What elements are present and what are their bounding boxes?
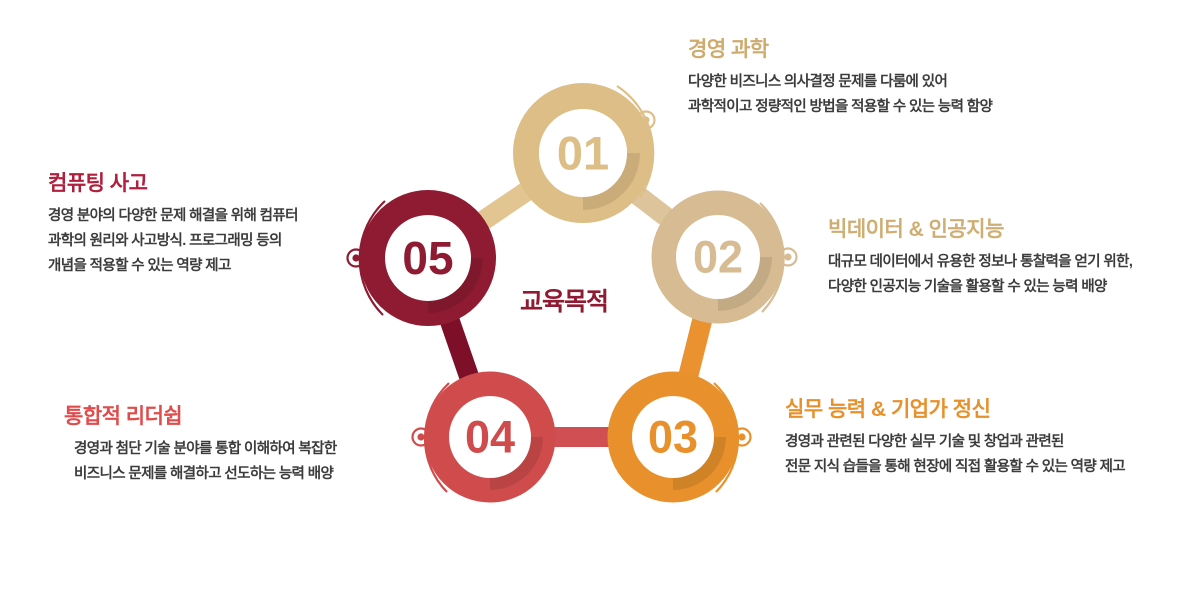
block-03-title: 실무 능력 & 기업가 정신 <box>785 398 1125 421</box>
block-01-line-2: 과학적이고 정량적인 방법을 적용할 수 있는 능력 함양 <box>688 95 992 120</box>
block-05-title: 컴퓨팅 사고 <box>48 172 298 195</box>
text-block-04: 통합적 리더쉽 경영과 첨단 기술 분야를 통합 이해하여 복잡한 비즈니스 문… <box>64 405 337 487</box>
block-02-line-1: 대규모 데이터에서 유용한 정보나 통찰력을 얻기 위한, <box>828 250 1132 275</box>
node-05-number: 05 <box>402 232 453 284</box>
center-label: 교육목적 <box>520 282 608 318</box>
block-04-line-1: 경영과 첨단 기술 분야를 통합 이해하여 복잡한 <box>64 437 337 462</box>
node-03[interactable]: 03 <box>620 383 751 492</box>
block-02-title: 빅데이터 & 인공지능 <box>828 218 1132 241</box>
node-05[interactable]: 05 <box>348 201 484 315</box>
block-01-line-1: 다양한 비즈니스 의사결정 문제를 다룸에 있어 <box>688 70 992 95</box>
block-03-line-2: 전문 지식 습들을 통해 현장에 직접 활용할 수 있는 역량 제고 <box>785 455 1125 480</box>
node-01[interactable]: 01 <box>526 86 655 210</box>
infographic-canvas: 01 02 03 <box>0 0 1200 600</box>
block-05-line-1: 경영 분야의 다양한 문제 해결을 위해 컴퓨터 <box>48 204 298 229</box>
text-block-03: 실무 능력 & 기업가 정신 경영과 관련된 다양한 실무 기술 및 창업과 관… <box>785 398 1125 480</box>
text-block-01: 경영 과학 다양한 비즈니스 의사결정 문제를 다룸에 있어 과학적이고 정량적… <box>688 38 992 120</box>
node-02-number: 02 <box>693 232 743 283</box>
text-block-02: 빅데이터 & 인공지능 대규모 데이터에서 유용한 정보나 통찰력을 얻기 위한… <box>828 218 1132 300</box>
node-03-number: 03 <box>648 412 698 463</box>
node-04-decor-dot-inner <box>417 433 424 440</box>
block-04-title: 통합적 리더쉽 <box>64 405 337 428</box>
node-02-decor-dot-inner <box>784 253 791 260</box>
node-04[interactable]: 04 <box>413 383 544 492</box>
node-01-decor-dot-inner <box>642 116 649 123</box>
node-03-decor-dot-inner <box>738 433 745 440</box>
block-04-line-2: 비즈니스 문제를 해결하고 선도하는 능력 배양 <box>64 462 337 487</box>
node-05-decor-dot-inner <box>352 254 359 261</box>
block-05-line-3: 개념을 적용할 수 있는 역량 제고 <box>48 254 298 279</box>
node-01-number: 01 <box>557 127 609 180</box>
block-03-line-1: 경영과 관련된 다양한 실무 기술 및 창업과 관련된 <box>785 430 1125 455</box>
node-04-number: 04 <box>465 412 515 463</box>
block-05-line-2: 과학의 원리와 사고방식. 프로그래밍 등의 <box>48 229 298 254</box>
block-02-line-2: 다양한 인공지능 기술을 활용할 수 있는 능력 배양 <box>828 275 1132 300</box>
block-01-title: 경영 과학 <box>688 38 992 61</box>
text-block-05: 컴퓨팅 사고 경영 분야의 다양한 문제 해결을 위해 컴퓨터 과학의 원리와 … <box>48 172 298 279</box>
node-02[interactable]: 02 <box>664 203 797 312</box>
